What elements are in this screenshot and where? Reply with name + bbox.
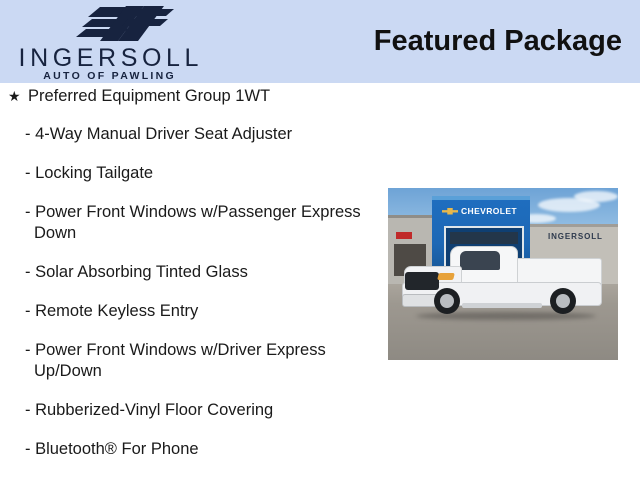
feature-sub-label: - Locking Tailgate [25,163,365,184]
feature-sub-label: - Power Front Windows w/Passenger Expres… [25,202,365,244]
photo-truck [398,244,603,322]
feature-sub-label: - Remote Keyless Entry [25,301,365,322]
photo-chevrolet-sign: CHEVROLET [442,204,522,218]
photo-cloud [574,191,618,202]
star-bullet-icon: ★ [8,86,21,107]
feature-sub-item: - Solar Absorbing Tinted Glass [0,262,365,283]
page-title: Featured Package [374,23,622,59]
truck-front-wheel [434,288,460,314]
feature-sub-label: - Solar Absorbing Tinted Glass [25,262,365,283]
feature-sub-label: - Power Front Windows w/Driver Express U… [25,340,365,382]
feature-sub-label: - Bluetooth® For Phone [25,439,365,460]
feature-main-label: Preferred Equipment Group 1WT [28,87,270,105]
truck-running-board [462,303,542,308]
truck-grille [405,272,439,290]
feature-sub-item: - Power Front Windows w/Passenger Expres… [0,202,365,244]
feature-sub-item: - 4-Way Manual Driver Seat Adjuster [0,124,365,145]
truck-rear-wheel [550,288,576,314]
ingersoll-wing-emblem-icon [48,5,176,43]
feature-sub-item: - Rubberized-Vinyl Floor Covering [0,400,365,421]
feature-list: ★ Preferred Equipment Group 1WT - 4-Way … [0,86,372,478]
feature-sub-item: - Locking Tailgate [0,163,365,184]
feature-sub-item: - Power Front Windows w/Driver Express U… [0,340,365,382]
feature-sub-label: - 4-Way Manual Driver Seat Adjuster [25,124,365,145]
brand-logo: INGERSOLL AUTO OF PAWLING [6,2,211,82]
slide-page: INGERSOLL AUTO OF PAWLING Featured Packa… [0,0,640,480]
header-band: INGERSOLL AUTO OF PAWLING Featured Packa… [0,0,640,83]
vehicle-photo: CHEVROLET INGERSOLL [388,188,618,360]
brand-name: INGERSOLL [6,45,211,72]
chevrolet-bowtie-icon [442,208,458,215]
photo-ingersoll-sign-text: INGERSOLL [548,232,603,242]
feature-main-item: ★ Preferred Equipment Group 1WT [0,86,372,107]
photo-left-building-sign [396,232,412,239]
feature-sub-item: - Bluetooth® For Phone [0,439,365,460]
truck-headlight [437,273,455,280]
photo-showroom-tower-cap [432,196,530,200]
truck-window [460,251,500,270]
feature-sub-item: - Remote Keyless Entry [0,301,365,322]
feature-sub-label: - Rubberized-Vinyl Floor Covering [25,400,365,421]
brand-tagline: AUTO OF PAWLING [6,70,211,82]
chevrolet-sign-text: CHEVROLET [461,206,517,216]
